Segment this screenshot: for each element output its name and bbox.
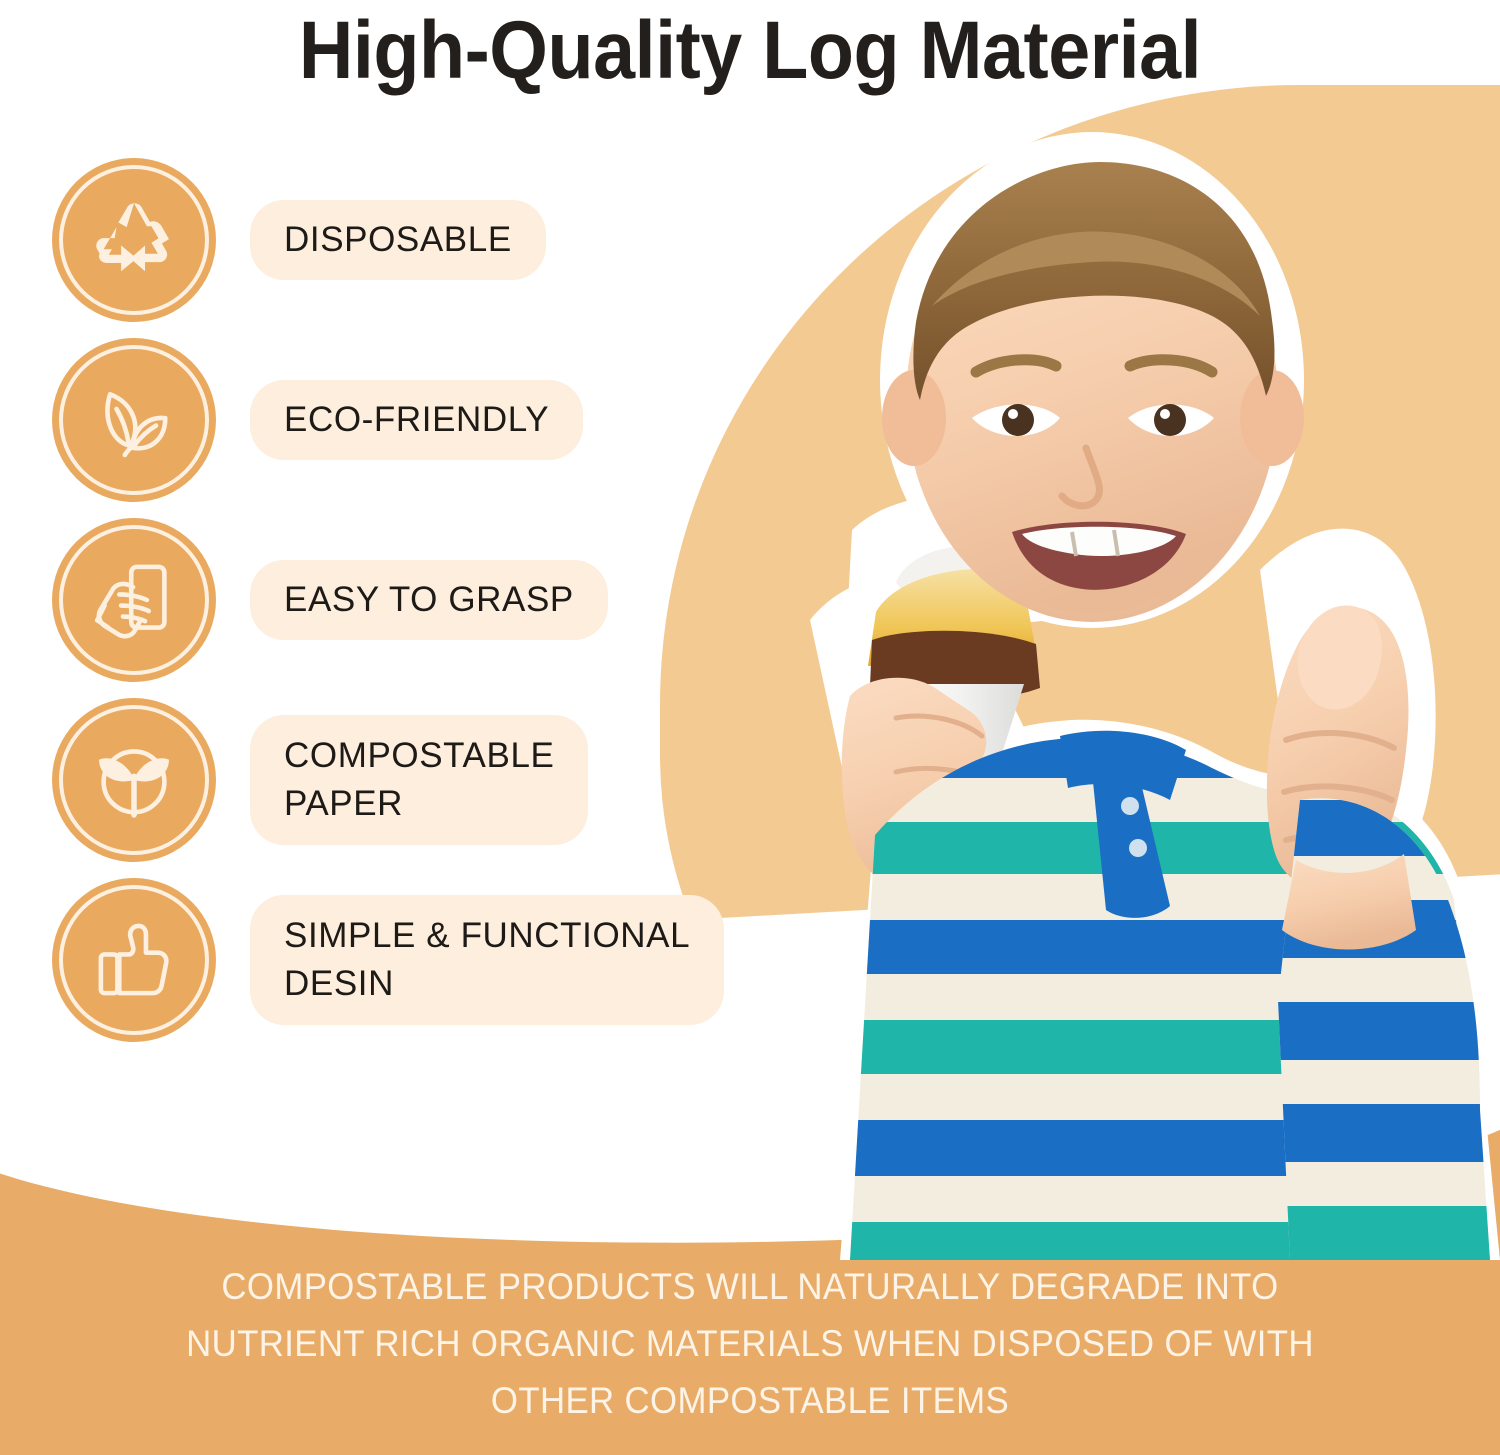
feature-label-line1: SIMPLE & FUNCTIONAL [284, 916, 690, 955]
feature-label: EASY TO GRASP [284, 577, 574, 623]
feature-pill-eco-friendly: ECO-FRIENDLY [250, 380, 583, 460]
feature-pill-simple-functional: SIMPLE & FUNCTIONAL DESIN [250, 895, 724, 1025]
feature-label-line1: COMPOSTABLE [284, 736, 554, 775]
shirt-sleeve [1260, 780, 1500, 1260]
feature-item-eco-friendly[interactable]: ECO-FRIENDLY [52, 330, 752, 510]
feature-item-easy-to-grasp[interactable]: EASY TO GRASP [52, 510, 752, 690]
feature-label: COMPOSTABLE PAPER [284, 732, 554, 828]
banner-line-2: NUTRIENT RICH ORGANIC MATERIALS WHEN DIS… [158, 1315, 1342, 1372]
feature-label: DISPOSABLE [284, 217, 512, 263]
bottom-banner-text: COMPOSTABLE PRODUCTS WILL NATURALLY DEGR… [158, 1258, 1342, 1429]
banner-line-1: COMPOSTABLE PRODUCTS WILL NATURALLY DEGR… [158, 1258, 1342, 1315]
banner-line-3: OTHER COMPOSTABLE ITEMS [158, 1372, 1342, 1429]
feature-pill-easy-to-grasp: EASY TO GRASP [250, 560, 608, 640]
feature-label: SIMPLE & FUNCTIONAL DESIN [284, 912, 690, 1008]
hand-grasp-icon [52, 518, 216, 682]
feature-item-disposable[interactable]: DISPOSABLE [52, 150, 752, 330]
feature-item-simple-functional[interactable]: SIMPLE & FUNCTIONAL DESIN [52, 870, 752, 1050]
child-photo [700, 100, 1500, 1260]
sprout-circle-icon [52, 698, 216, 862]
recycle-icon [52, 158, 216, 322]
feature-pill-compostable-paper: COMPOSTABLE PAPER [250, 715, 588, 845]
page-title: High-Quality Log Material [60, 2, 1440, 100]
feature-list: DISPOSABLE ECO-FRIENDLY [52, 150, 752, 1050]
feature-label-line2: PAPER [284, 784, 403, 823]
product-infographic: High-Quality Log Material [0, 0, 1500, 1455]
thumbs-up-icon [52, 878, 216, 1042]
feature-label: ECO-FRIENDLY [284, 397, 549, 443]
feature-label-line2: DESIN [284, 964, 394, 1003]
feature-pill-disposable: DISPOSABLE [250, 200, 546, 280]
feature-item-compostable-paper[interactable]: COMPOSTABLE PAPER [52, 690, 752, 870]
leaves-icon [52, 338, 216, 502]
